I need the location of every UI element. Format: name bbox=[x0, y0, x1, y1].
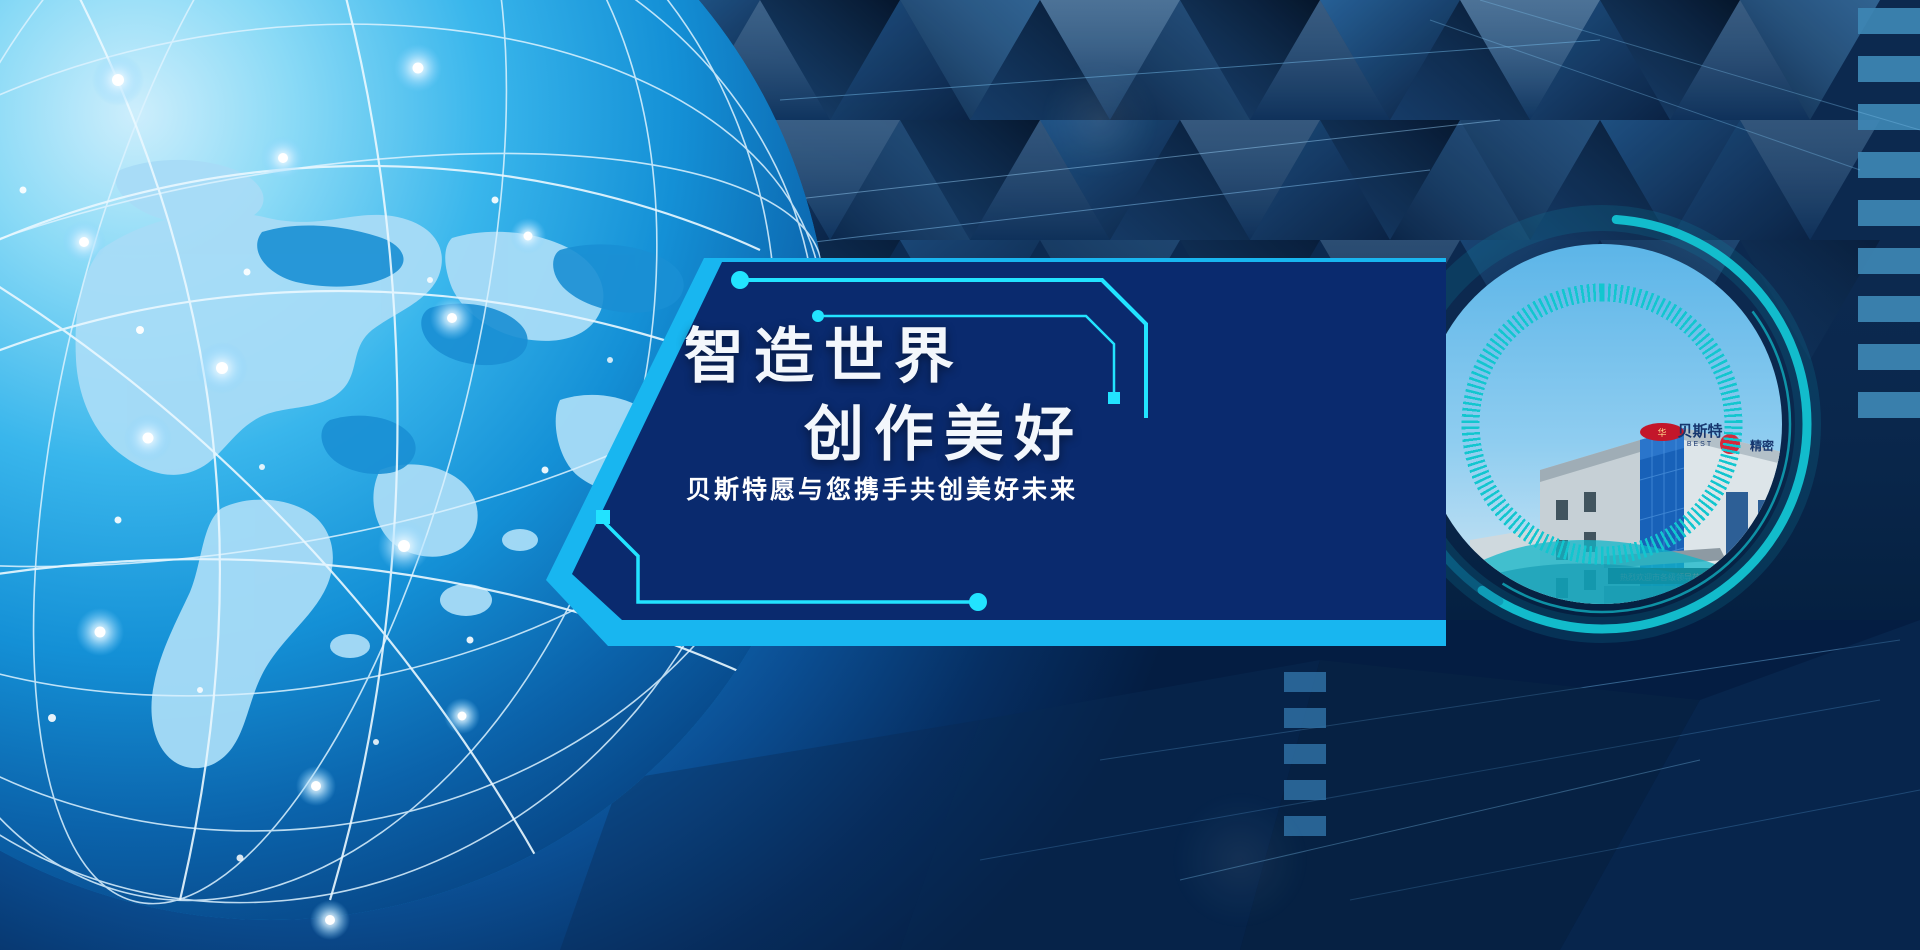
lower-facets bbox=[560, 620, 1920, 950]
edge-dash-marks bbox=[1858, 8, 1920, 440]
hero-banner: 华 贝斯特 BEST 精密 热烈欢迎市各级领导莅临 bbox=[0, 0, 1920, 950]
tech-circle-frame bbox=[1392, 214, 1812, 634]
circle-arc-rings bbox=[1392, 214, 1812, 634]
headline-panel: 智造世界 创作美好 贝斯特愿与您携手共创美好未来 bbox=[546, 258, 1412, 658]
headline-subtitle: 贝斯特愿与您携手共创美好未来 bbox=[686, 470, 1078, 506]
headline-line-1: 智造世界 bbox=[684, 308, 964, 395]
mid-dash-marks bbox=[1284, 672, 1326, 852]
headline-line-2: 创作美好 bbox=[804, 386, 1084, 473]
